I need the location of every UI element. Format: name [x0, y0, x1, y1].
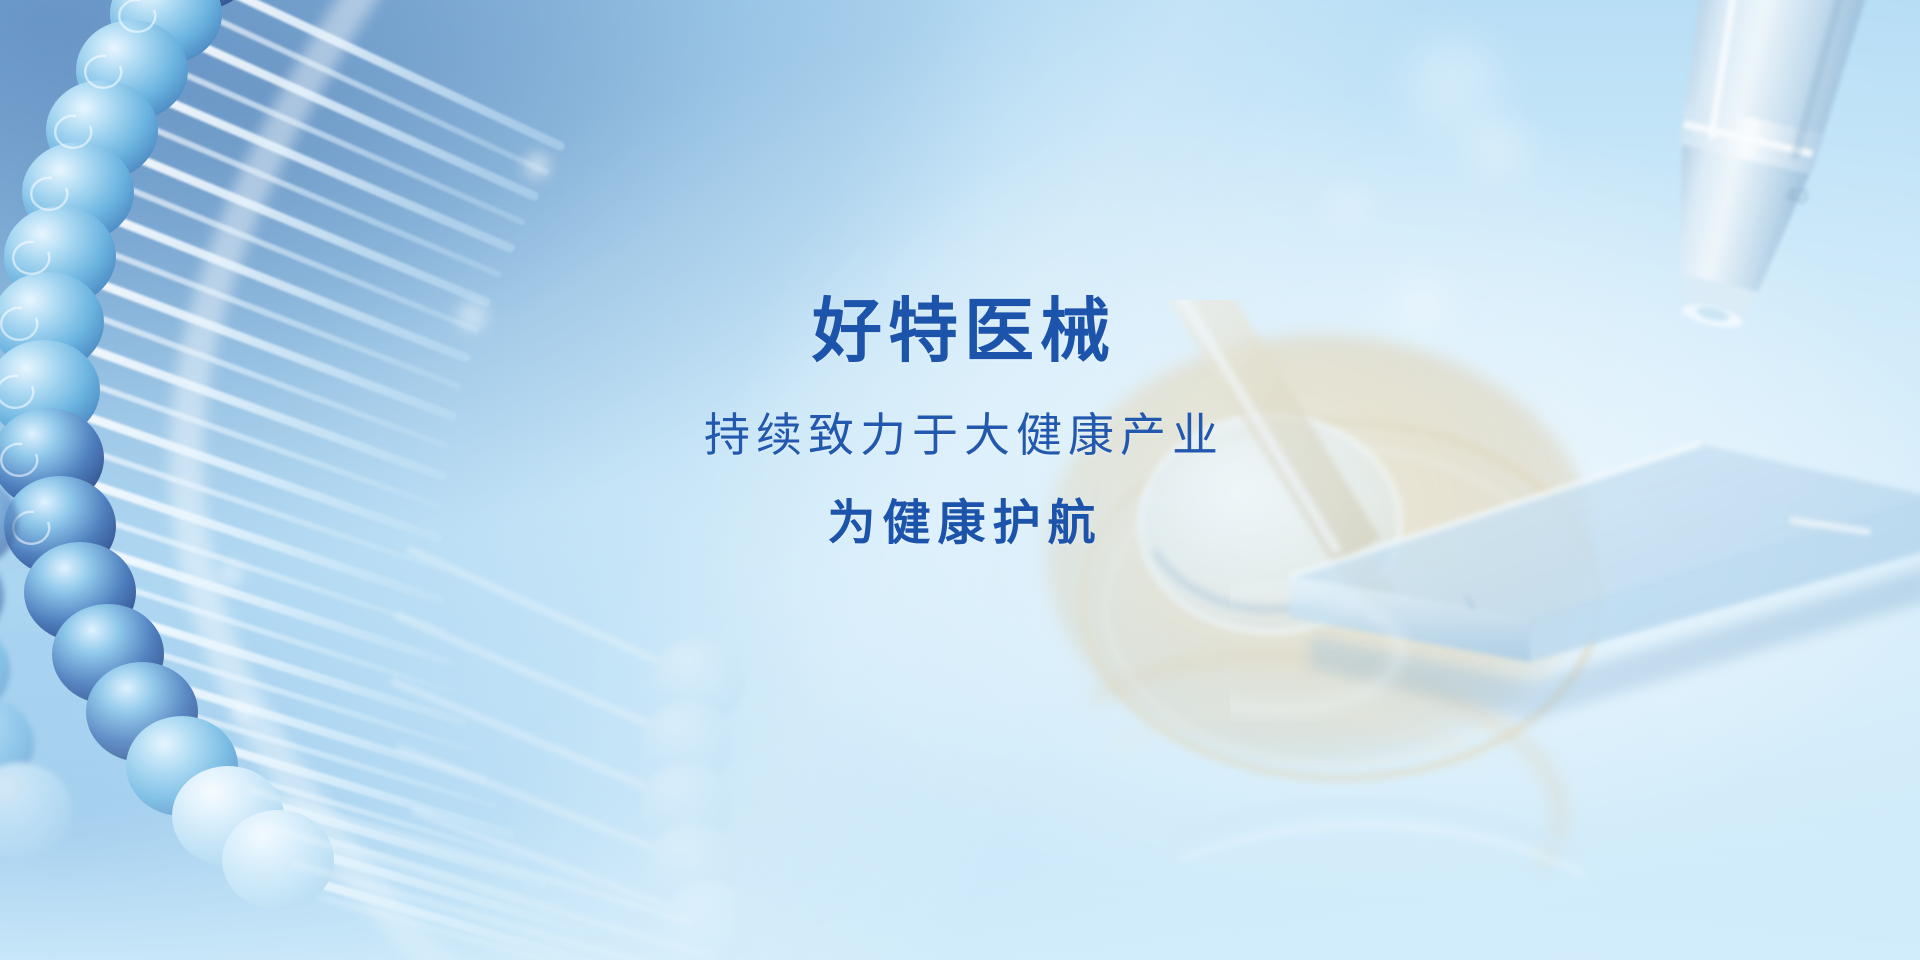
hero-banner: 40 [0, 0, 1920, 960]
banner-headline: 好特医械 [0, 296, 1920, 366]
banner-copy: 好特医械 持续致力于大健康产业 为健康护航 [0, 296, 1920, 548]
banner-tagline: 为健康护航 [0, 500, 1920, 548]
banner-subheadline: 持续致力于大健康产业 [0, 412, 1920, 458]
